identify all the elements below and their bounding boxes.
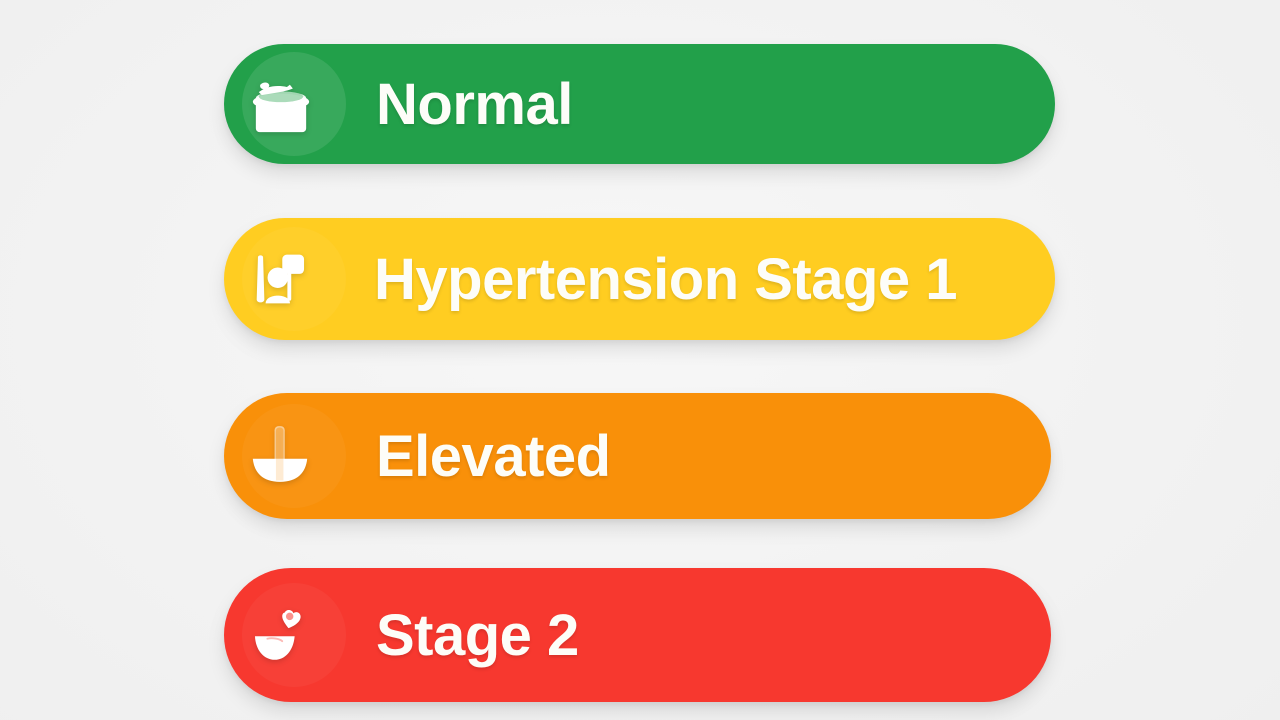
- category-bar-hypertension-stage-1[interactable]: Hypertension Stage 1: [224, 218, 1055, 340]
- category-bar-normal[interactable]: Normal: [224, 44, 1055, 164]
- category-label-stage-2: Stage 2: [376, 602, 579, 669]
- icon-container-normal: [224, 44, 332, 164]
- category-label-elevated: Elevated: [376, 423, 611, 490]
- bowl-with-heart-icon: [250, 601, 312, 669]
- category-label-normal: Normal: [376, 71, 573, 138]
- icon-container-hypertension-stage-1: [224, 218, 332, 340]
- icon-container-elevated: [224, 393, 332, 519]
- icon-container-stage-2: [224, 568, 332, 702]
- mortar-and-pestle-icon: [246, 420, 314, 492]
- blood-pressure-cuff-icon: [244, 67, 318, 141]
- patient-with-iv-stand-icon: [249, 244, 313, 314]
- category-bar-stage-2[interactable]: Stage 2: [224, 568, 1051, 702]
- category-list: Normal Hypertension Stage 1 E: [0, 0, 1280, 720]
- category-bar-elevated[interactable]: Elevated: [224, 393, 1051, 519]
- category-label-hypertension-stage-1: Hypertension Stage 1: [374, 246, 957, 313]
